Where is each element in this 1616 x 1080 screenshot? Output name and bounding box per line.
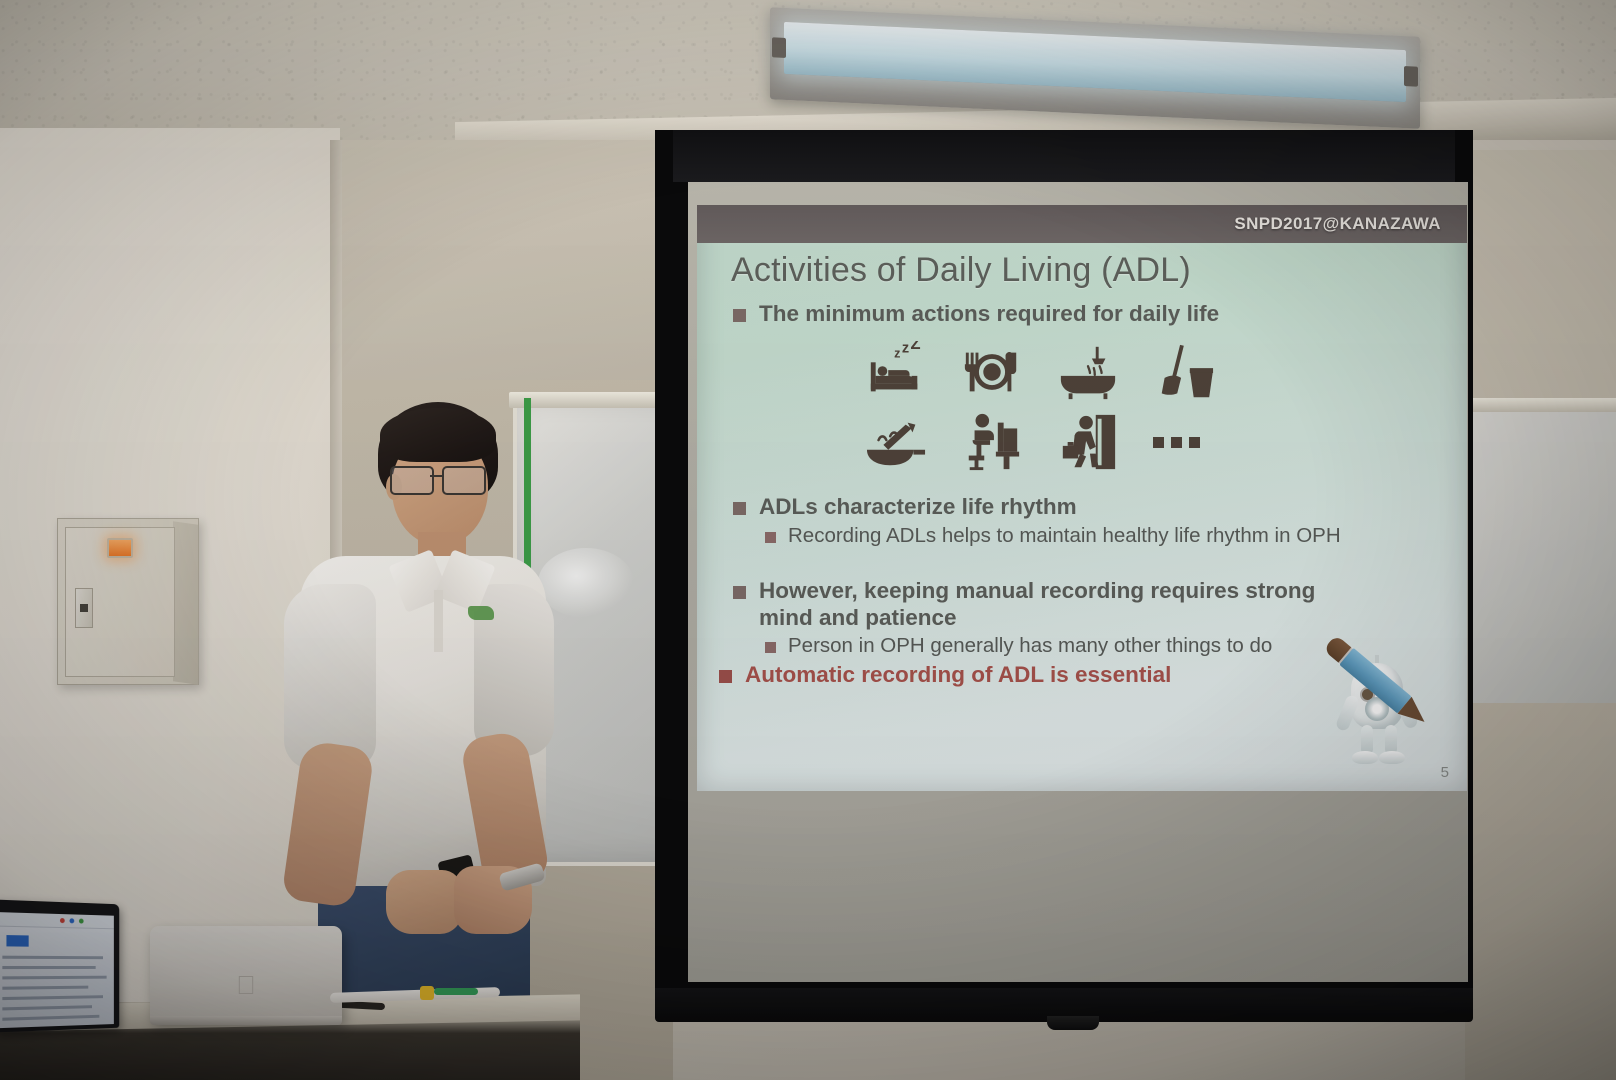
text-line <box>2 976 106 980</box>
bullet-level1: ADLs characterize life rhythm <box>733 493 1467 520</box>
toolbar-dot-2 <box>70 918 75 923</box>
projector-screen-pull-handle[interactable] <box>1047 1016 1099 1030</box>
bullet-text: The minimum actions required for daily l… <box>759 300 1219 327</box>
glasses-lens-right <box>442 466 486 495</box>
bullet-square-icon <box>765 642 776 653</box>
svg-text:z: z <box>894 347 900 361</box>
robot-mascot-icon <box>1307 653 1437 768</box>
bullet-level1: However, keeping manual recording requir… <box>733 577 1467 632</box>
bullet-square-icon <box>765 532 776 543</box>
crocodile-logo-icon <box>468 606 494 620</box>
light-cap-left <box>772 37 786 58</box>
document-highlight <box>6 935 28 947</box>
cooking-icon <box>865 411 927 473</box>
light-cap-right <box>1404 66 1418 87</box>
glasses-bridge <box>430 475 442 477</box>
bullet-square-icon <box>733 586 746 599</box>
spacer <box>697 551 1467 577</box>
bullet-square-icon <box>719 670 732 683</box>
conference-label: SNPD2017@KANAZAWA <box>1234 214 1441 234</box>
slide-header-bar: SNPD2017@KANAZAWA <box>697 205 1467 243</box>
desk-work-icon <box>961 411 1023 473</box>
svg-text:z: z <box>902 341 909 357</box>
silver-macbook[interactable]:  <box>150 926 342 1022</box>
bullet-text-highlight: Automatic recording of ADL is essential <box>745 661 1171 688</box>
glasses-lens-left <box>390 466 434 495</box>
apple-logo-icon:  <box>235 972 257 998</box>
presentation-photo-scene:  SNPD2017@KANAZAWA Activities of Daily … <box>0 0 1616 1080</box>
bullet-square-icon <box>733 502 746 515</box>
bullet-level1: The minimum actions required for daily l… <box>733 300 1467 327</box>
bullet-square-icon <box>733 309 746 322</box>
robot-foot-right <box>1379 751 1405 764</box>
text-line <box>2 1005 92 1010</box>
svg-text:Z: Z <box>911 341 921 353</box>
text-line <box>2 966 95 969</box>
adl-icon-row-2 <box>865 411 1237 473</box>
bathing-icon <box>1057 341 1119 403</box>
control-box-side <box>173 521 198 685</box>
sleeping-icon: z z Z <box>865 341 927 403</box>
presentation-slide: SNPD2017@KANAZAWA Activities of Daily Li… <box>697 205 1467 791</box>
mopping-icon <box>1153 341 1215 403</box>
bullet-text: However, keeping manual recording requir… <box>759 577 1359 632</box>
bullet-text: ADLs characterize life rhythm <box>759 493 1077 520</box>
ellipsis-icon <box>1153 411 1200 473</box>
toolbar-dot-3 <box>79 919 84 924</box>
slide-page-number: 5 <box>1441 764 1449 781</box>
whiteboard-right-rail <box>1468 398 1616 412</box>
cable-connector-green <box>434 988 478 995</box>
shirt-placket <box>434 590 443 652</box>
bullet-level2: Recording ADLs helps to maintain healthy… <box>765 523 1467 549</box>
hand-left <box>386 870 462 934</box>
eating-icon <box>961 341 1023 403</box>
adl-icon-grid: z z Z <box>865 341 1237 473</box>
dark-laptop-screen <box>0 912 114 1028</box>
macbook-base <box>150 1016 342 1025</box>
browser-toolbar <box>0 912 114 929</box>
control-box-switch[interactable] <box>75 588 93 628</box>
robot-foot-left <box>1352 751 1378 764</box>
text-line <box>2 995 103 1000</box>
cable-connector-yellow <box>420 986 434 1000</box>
whiteboard-right <box>1468 398 1616 703</box>
going-out-icon <box>1057 411 1119 473</box>
slide-body: The minimum actions required for daily l… <box>697 300 1467 690</box>
text-line <box>2 956 103 960</box>
projector-screen-top-bar <box>673 130 1455 182</box>
hair-front <box>380 408 496 462</box>
dark-laptop[interactable] <box>0 900 119 1033</box>
glasses-icon <box>390 466 492 492</box>
upper-wall-panel <box>333 140 663 390</box>
toolbar-dot-1 <box>60 918 65 923</box>
slide-title: Activities of Daily Living (ADL) <box>731 251 1191 290</box>
text-line <box>2 1015 99 1021</box>
adl-icon-row-1: z z Z <box>865 341 1237 403</box>
sleeve-left <box>284 584 376 770</box>
indicator-lamp-icon <box>107 538 133 558</box>
bullet-text: Person in OPH generally has many other t… <box>788 633 1272 659</box>
bullet-text: Recording ADLs helps to maintain healthy… <box>788 523 1341 549</box>
text-line <box>2 986 88 990</box>
light-tube <box>784 22 1406 102</box>
